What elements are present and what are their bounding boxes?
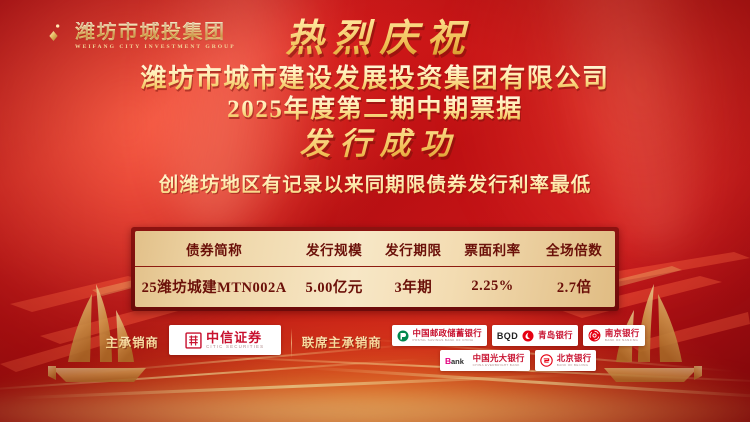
joint-logo-row-2: B ank 中国光大银行 CHINA EVERBRIGHT BANK 北京银行 (392, 350, 645, 371)
company-name: 潍坊市城市建设发展投资集团有限公司 (0, 63, 750, 95)
col-bond-name: 债券简称 (135, 231, 293, 267)
crescent-diamond-logo-icon (26, 16, 66, 56)
cell-issue-term: 3年期 (375, 267, 452, 308)
cell-subscription-multiple: 2.7倍 (533, 267, 615, 308)
nanjing-name-en: BANK OF NANJING (605, 339, 640, 342)
nanjing-name-cn: 南京银行 (605, 329, 640, 337)
bond-table: 债券简称 发行规模 发行期限 票面利率 全场倍数 25潍坊城建MTN002A 5… (135, 231, 615, 307)
bank-chip-beijing: 北京银行 BANK OF BEIJING (535, 350, 597, 371)
col-issue-size: 发行规模 (293, 231, 375, 267)
cell-issue-size: 5.00亿元 (293, 267, 375, 308)
bank-chip-everbright: B ank 中国光大银行 CHINA EVERBRIGHT BANK (440, 350, 530, 371)
brand-logo: 潍坊市城投集团 WEIFANG CITY INVESTMENT GROUP (26, 16, 236, 56)
joint-underwriter-label: 联席主承销商 (302, 325, 382, 351)
section-divider (291, 328, 292, 358)
postal-savings-icon (397, 330, 409, 342)
citic-seal-icon (185, 332, 202, 349)
citic-name-cn: 中信证券 (206, 331, 264, 344)
postal-savings-name-en: POSTAL SAVINGS BANK OF CHINA (413, 339, 482, 342)
brand-name-en: WEIFANG CITY INVESTMENT GROUP (75, 45, 236, 51)
everbright-icon: B ank (445, 355, 469, 367)
bank-chip-postal-savings: 中国邮政储蓄银行 POSTAL SAVINGS BANK OF CHINA (392, 325, 487, 346)
joint-underwriter-logos: 中国邮政储蓄银行 POSTAL SAVINGS BANK OF CHINA BQ… (392, 325, 645, 371)
bond-table-frame: 债券简称 发行规模 发行期限 票面利率 全场倍数 25潍坊城建MTN002A 5… (131, 227, 619, 311)
bank-chip-qingdao: BQD 青岛银行 (492, 325, 578, 346)
beijing-icon (540, 354, 553, 367)
qingdao-name-cn: 青岛银行 (538, 331, 573, 339)
underwriter-section: 主承销商 中信证券 CITIC SECURITIES 联席主承销商 (0, 325, 750, 371)
everbright-name-en: CHINA EVERBRIGHT BANK (473, 364, 525, 367)
issue-name: 2025年度第二期中期票据 (0, 95, 750, 126)
qingdao-prefix: BQD (497, 331, 518, 341)
everbright-name-cn: 中国光大银行 (473, 354, 525, 362)
lead-underwriter-citic: 中信证券 CITIC SECURITIES (169, 325, 281, 355)
qingdao-dot-icon (522, 330, 534, 342)
cell-coupon-rate: 2.25% (452, 267, 534, 308)
bank-chip-nanjing: 南京银行 BANK OF NANJING (583, 325, 645, 346)
col-coupon-rate: 票面利率 (452, 231, 534, 267)
success-title: 发行成功 (0, 128, 750, 161)
highlight-subtitle: 创潍坊地区有记录以来同期限债券发行利率最低 (0, 168, 750, 197)
brand-name-cn: 潍坊市城投集团 (75, 22, 236, 42)
beijing-name-en: BANK OF BEIJING (557, 364, 592, 367)
nanjing-rose-icon (588, 329, 601, 342)
citic-name-en: CITIC SECURITIES (206, 345, 264, 349)
cell-bond-name: 25潍坊城建MTN002A (135, 267, 293, 308)
postal-savings-name-cn: 中国邮政储蓄银行 (413, 329, 482, 337)
col-issue-term: 发行期限 (375, 231, 452, 267)
joint-logo-row-1: 中国邮政储蓄银行 POSTAL SAVINGS BANK OF CHINA BQ… (392, 325, 645, 346)
table-header-row: 债券简称 发行规模 发行期限 票面利率 全场倍数 (135, 231, 615, 267)
svg-text:B: B (445, 356, 451, 366)
beijing-name-cn: 北京银行 (557, 354, 592, 362)
table-row: 25潍坊城建MTN002A 5.00亿元 3年期 2.25% 2.7倍 (135, 267, 615, 308)
poster-canvas: 潍坊市城投集团 WEIFANG CITY INVESTMENT GROUP 热烈… (0, 0, 750, 422)
lead-underwriter-label: 主承销商 (105, 325, 158, 351)
col-subscription-multiple: 全场倍数 (533, 231, 615, 267)
svg-text:ank: ank (451, 357, 465, 366)
